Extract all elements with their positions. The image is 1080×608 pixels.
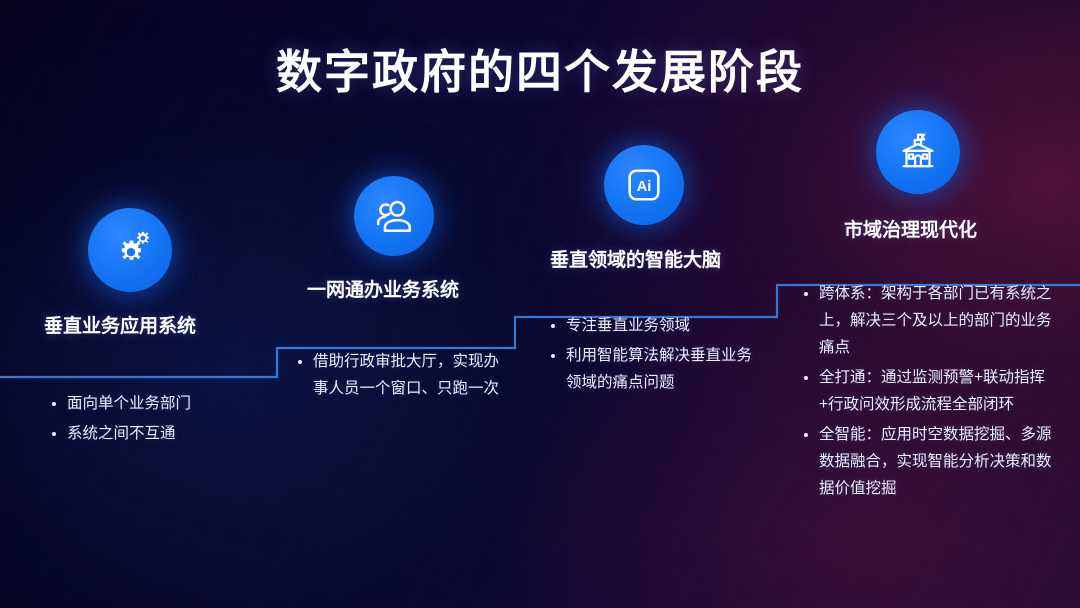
stage-4-title: 市域治理现代化 xyxy=(844,215,1080,242)
stage-vertical-business-application-system[interactable]: 垂直业务应用系统 面向单个业务部门 系统之间不互通 xyxy=(0,208,272,450)
stage-1-title: 垂直业务应用系统 xyxy=(44,311,272,338)
stage-1-bullets: 面向单个业务部门 系统之间不互通 xyxy=(50,390,272,447)
list-item: 利用智能算法解决垂直业务领域的痛点问题 xyxy=(549,342,764,396)
list-item: 跨体系：架构于各部门已有系统之上，解决三个及以上的部门的业务痛点 xyxy=(802,280,1060,361)
stage-3-icon-circle: Ai xyxy=(604,145,684,225)
slide-canvas: 数字政府的四个发展阶段 垂直业务应用系统 xyxy=(0,0,1080,608)
svg-text:Ai: Ai xyxy=(637,179,652,195)
ai-icon: Ai xyxy=(623,164,665,206)
list-item: 系统之间不互通 xyxy=(50,420,272,447)
stage-one-network-service-business-system[interactable]: 一网通办业务系统 借助行政审批大厅，实现办事人员一个窗口、只跑一次 xyxy=(268,176,518,405)
stage-3-bullets: 专注垂直业务领域 利用智能算法解决垂直业务领域的痛点问题 xyxy=(549,312,764,396)
stage-2-bullets: 借助行政审批大厅，实现办事人员一个窗口、只跑一次 xyxy=(296,348,514,402)
stage-3-title: 垂直领域的智能大脑 xyxy=(550,245,778,272)
stage-4-icon-circle xyxy=(876,110,960,194)
stage-vertical-domain-intelligent-brain[interactable]: Ai 垂直领域的智能大脑 专注垂直业务领域 利用智能算法解决垂直业务领域的痛点问… xyxy=(520,145,778,399)
stage-2-icon-circle xyxy=(354,176,434,256)
list-item: 全智能：应用时空数据挖掘、多源数据融合，实现智能分析决策和数据价值挖掘 xyxy=(802,421,1060,502)
page-title: 数字政府的四个发展阶段 xyxy=(0,36,1080,102)
stage-2-title: 一网通办业务系统 xyxy=(307,275,518,302)
gears-icon xyxy=(107,227,153,273)
list-item: 全打通：通过监测预警+联动指挥+行政问效形成流程全部闭环 xyxy=(802,364,1060,418)
government-building-icon xyxy=(895,129,941,175)
stage-urban-governance-modernization[interactable]: 市域治理现代化 跨体系：架构于各部门已有系统之上，解决三个及以上的部门的业务痛点… xyxy=(780,110,1080,505)
list-item: 借助行政审批大厅，实现办事人员一个窗口、只跑一次 xyxy=(296,348,514,402)
list-item: 专注垂直业务领域 xyxy=(549,312,764,339)
stage-4-bullets: 跨体系：架构于各部门已有系统之上，解决三个及以上的部门的业务痛点 全打通：通过监… xyxy=(802,280,1060,502)
list-item: 面向单个业务部门 xyxy=(50,390,272,417)
people-icon xyxy=(373,195,415,237)
stage-1-icon-circle xyxy=(88,208,172,292)
